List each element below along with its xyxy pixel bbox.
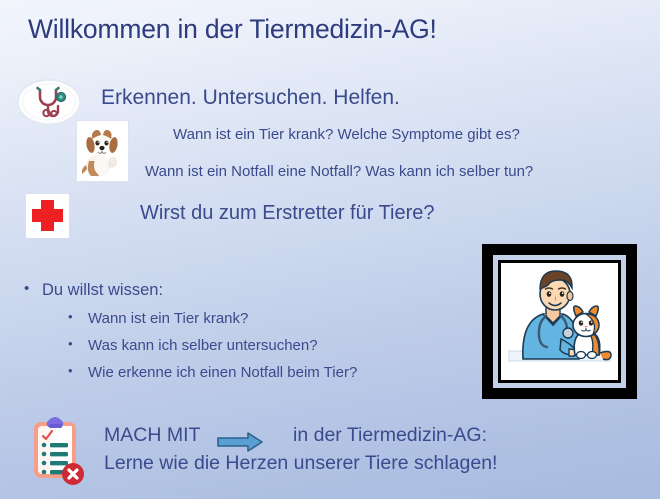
puppy-photo <box>77 121 128 181</box>
veterinarian-with-cat-photo <box>482 244 637 399</box>
question-line-2: Wann ist ein Notfall eine Notfall? Was k… <box>145 163 533 180</box>
clipboard-checklist-icon <box>28 412 90 488</box>
bullet-item-1: Wann ist ein Tier krank? <box>64 311 462 326</box>
bullet-item-2: Was kann ich selber untersuchen? <box>64 338 462 353</box>
red-cross-horizontal-bar <box>32 209 63 222</box>
bullet-lead: Du willst wissen: <box>22 282 462 299</box>
red-cross-icon <box>26 194 69 238</box>
photo-content <box>501 263 618 380</box>
call-question-text: Wirst du zum Erstretter für Tiere? <box>140 202 435 225</box>
tagline-text: Erkennen. Untersuchen. Helfen. <box>101 86 400 110</box>
page-title: Willkommen in der Tiermedizin-AG! <box>28 14 437 45</box>
footer-line-1-after-arrow: in der Tiermedizin-AG: <box>293 424 487 447</box>
footer-line-2: Lerne wie die Herzen unserer Tiere schla… <box>104 452 497 475</box>
photo-frame-inner-border <box>498 260 621 383</box>
question-line-1: Wann ist ein Tier krank? Welche Symptome… <box>173 126 520 143</box>
slide-canvas: Willkommen in der Tiermedizin-AG! Erkenn… <box>0 0 660 499</box>
bullet-item-3: Wie erkenne ich einen Notfall beim Tier? <box>64 365 462 380</box>
stethoscope-icon <box>16 78 82 126</box>
footer-line-1-before-arrow: MACH MIT <box>104 424 200 447</box>
bullet-list: Du willst wissen: Wann ist ein Tier kran… <box>22 282 462 392</box>
photo-frame-mat <box>493 255 626 388</box>
right-arrow-icon <box>216 431 286 453</box>
